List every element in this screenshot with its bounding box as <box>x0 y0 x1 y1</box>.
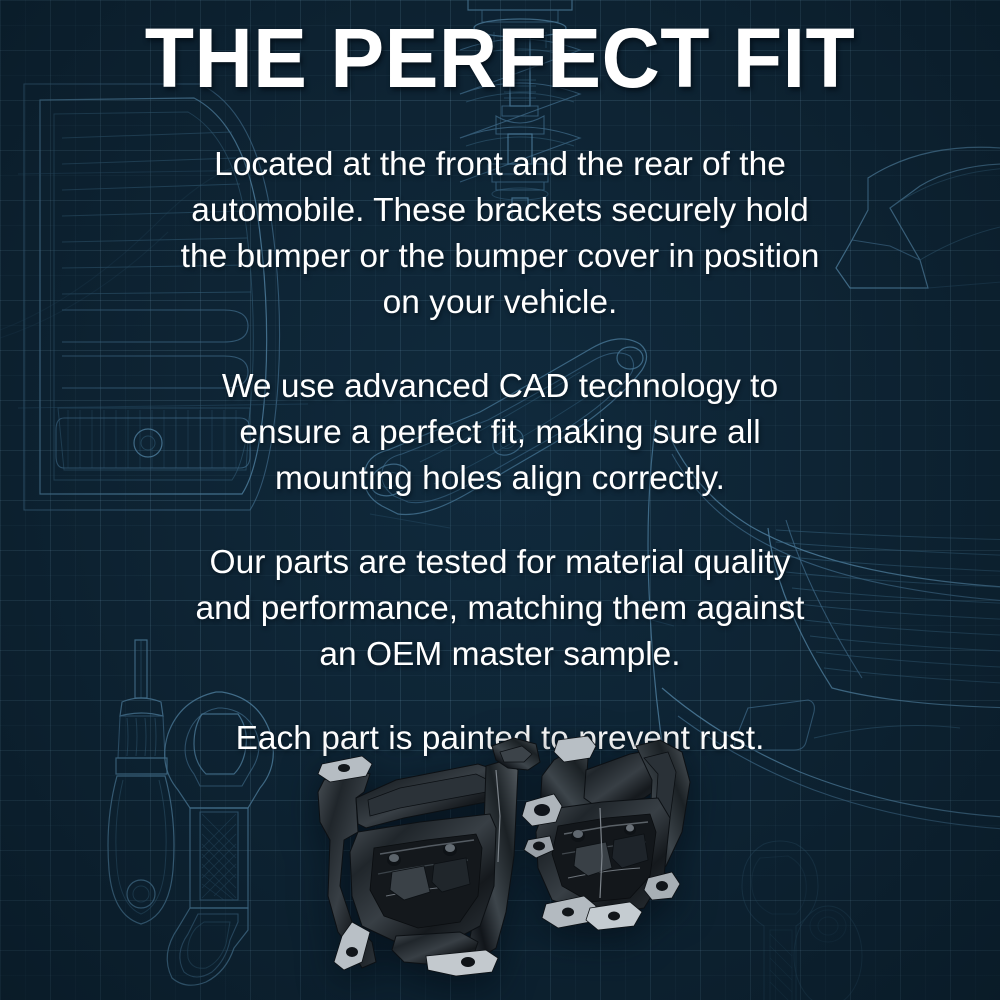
paragraph-tested: Our parts are tested for material qualit… <box>90 540 910 678</box>
bracket-right <box>522 736 690 930</box>
promo-graphic: THE PERFECT FIT Located at the front and… <box>0 0 1000 1000</box>
paragraph-cad: We use advanced CAD technology to ensure… <box>90 364 910 502</box>
page-title: THE PERFECT FIT <box>20 16 980 100</box>
bumper-bracket-product-image <box>300 736 700 986</box>
bracket-left <box>318 738 540 976</box>
paragraph-location: Located at the front and the rear of the… <box>90 142 910 326</box>
body-copy: Located at the front and the rear of the… <box>90 142 910 762</box>
